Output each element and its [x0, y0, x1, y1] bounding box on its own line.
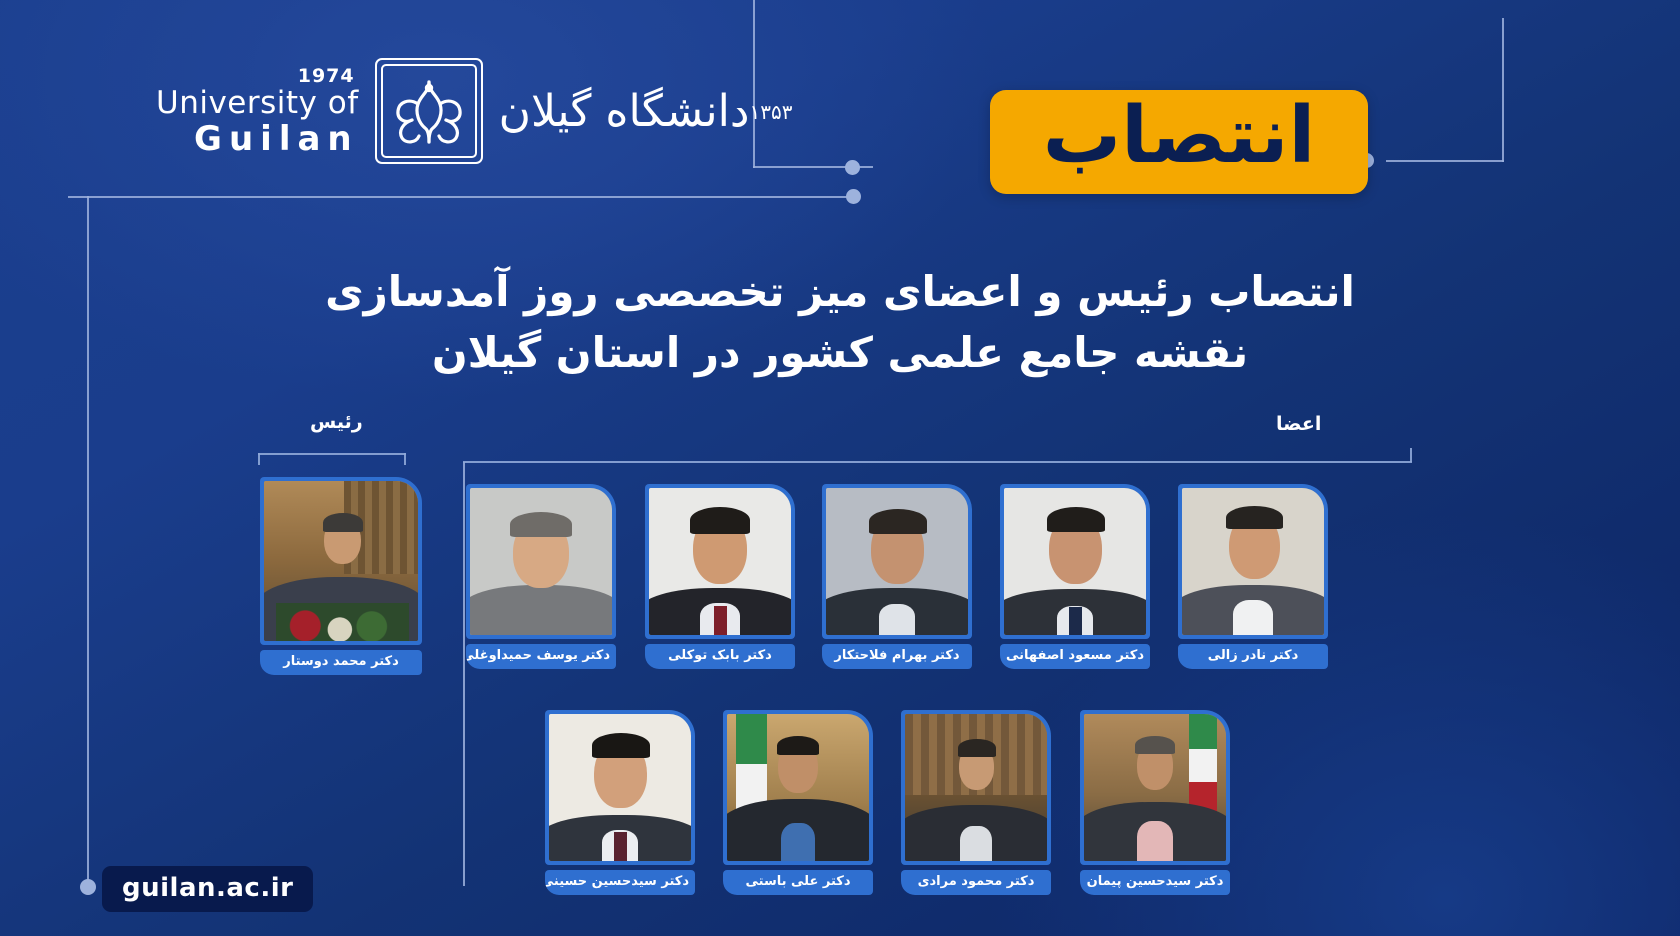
section-tick-chairman-right	[404, 453, 406, 465]
deco-dot-lower-left	[846, 189, 861, 204]
page-title-line-2: نقشه جامع علمی کشور در استان گیلان	[190, 323, 1490, 384]
avatar	[470, 488, 612, 635]
person-name: دکتر بابک توکلی	[645, 644, 795, 669]
avatar	[1084, 714, 1226, 861]
person-card-member[interactable]: دکتر سیدحسین پیمان	[1080, 710, 1230, 895]
section-tick-members-right	[1410, 448, 1412, 462]
photo-flag	[1189, 714, 1217, 817]
person-name: دکتر یوسف حمیداوغلی	[466, 644, 616, 669]
deco-vertical-line-members	[463, 462, 465, 886]
page-title: انتصاب رئیس و اعضای میز تخصصی روز آمدساز…	[0, 262, 1680, 384]
photo-shirt	[1233, 600, 1273, 635]
person-name: دکتر مسعود اصفهانی	[1000, 644, 1150, 669]
avatar	[1004, 488, 1146, 635]
person-card-member[interactable]: دکتر یوسف حمیداوغلی	[466, 484, 616, 669]
avatar	[264, 481, 418, 641]
deco-vertical-line-right	[1502, 18, 1504, 162]
photo-flowers	[276, 603, 408, 641]
photo-hair	[1047, 507, 1105, 532]
avatar	[649, 488, 791, 635]
photo-shirt	[1137, 821, 1174, 861]
university-logo: 1974 University of Guilan ۱۳۵۳ دانشگاه گ…	[152, 58, 798, 164]
appointment-badge: انتصاب	[990, 90, 1368, 194]
section-label-chairman: رئیس	[310, 411, 363, 433]
photo-torso	[470, 585, 612, 635]
photo-hair	[777, 736, 820, 755]
photo-tie	[1069, 607, 1082, 635]
avatar	[549, 714, 691, 861]
person-name: دکتر نادر زالی	[1178, 644, 1328, 669]
photo-hair	[1135, 736, 1175, 754]
photo-tie	[714, 606, 727, 635]
photo-frame	[466, 484, 616, 639]
photo-hair	[510, 512, 572, 537]
photo-hair	[323, 513, 363, 532]
photo-frame	[1000, 484, 1150, 639]
avatar	[727, 714, 869, 861]
photo-frame	[545, 710, 695, 865]
logo-university-name: Guilan	[194, 122, 359, 156]
emblem-motif-icon	[385, 68, 473, 154]
announcement-poster: 1974 University of Guilan ۱۳۵۳ دانشگاه گ…	[0, 0, 1680, 936]
deco-dot-upper	[845, 160, 860, 175]
photo-hair	[690, 507, 750, 533]
logo-university-name-fa: دانشگاه گیلان	[499, 86, 750, 137]
photo-frame	[1080, 710, 1230, 865]
guilan-emblem-icon	[375, 58, 483, 164]
logo-persian-text: ۱۳۵۳ دانشگاه گیلان	[499, 86, 799, 137]
photo-frame	[645, 484, 795, 639]
avatar	[905, 714, 1047, 861]
avatar	[826, 488, 968, 635]
photo-frame	[901, 710, 1051, 865]
person-card-chairman[interactable]: دکتر محمد دوستار	[260, 477, 422, 675]
person-card-member[interactable]: دکتر علی باستی	[723, 710, 873, 895]
person-card-member[interactable]: دکتر سیدحسین حسینی مقدم	[545, 710, 695, 895]
person-name: دکتر علی باستی	[723, 870, 873, 895]
photo-hair	[592, 733, 650, 758]
photo-tie	[614, 832, 627, 861]
section-rule-chairman	[258, 453, 406, 455]
logo-university-word: University of	[156, 88, 359, 119]
person-name: دکتر محمد دوستار	[260, 650, 422, 675]
logo-year-fa: ۱۳۵۳	[749, 100, 792, 124]
person-card-member[interactable]: دکتر بهرام فلاحتکار	[822, 484, 972, 669]
person-card-member[interactable]: دکتر محمود مرادی	[901, 710, 1051, 895]
deco-horizontal-line-lower	[68, 196, 858, 198]
person-card-member[interactable]: دکتر بابک توکلی	[645, 484, 795, 669]
photo-frame	[723, 710, 873, 865]
photo-hair	[958, 739, 996, 757]
section-label-members: اعضا	[1276, 413, 1321, 435]
deco-horizontal-line-right	[1386, 160, 1504, 162]
person-card-member[interactable]: دکتر نادر زالی	[1178, 484, 1328, 669]
person-name: دکتر محمود مرادی	[901, 870, 1051, 895]
photo-frame	[822, 484, 972, 639]
person-name: دکتر سیدحسین پیمان	[1080, 870, 1230, 895]
person-card-member[interactable]: دکتر مسعود اصفهانی	[1000, 484, 1150, 669]
section-tick-chairman-left	[258, 453, 260, 465]
avatar	[1182, 488, 1324, 635]
logo-english-text: 1974 University of Guilan	[152, 67, 359, 156]
logo-year-en: 1974	[298, 67, 355, 86]
photo-shirt	[879, 604, 916, 635]
website-url-badge[interactable]: guilan.ac.ir	[102, 866, 313, 912]
page-title-line-1: انتصاب رئیس و اعضای میز تخصصی روز آمدساز…	[325, 267, 1355, 316]
photo-shirt	[781, 823, 815, 861]
person-name: دکتر سیدحسین حسینی مقدم	[545, 870, 695, 895]
photo-hair	[1226, 506, 1283, 530]
photo-frame	[260, 477, 422, 645]
person-name: دکتر بهرام فلاحتکار	[822, 644, 972, 669]
photo-frame	[1178, 484, 1328, 639]
section-rule-members	[463, 461, 1412, 463]
photo-hair	[869, 509, 927, 534]
photo-shirt	[960, 826, 991, 861]
deco-dot-bottom-left	[80, 879, 96, 895]
